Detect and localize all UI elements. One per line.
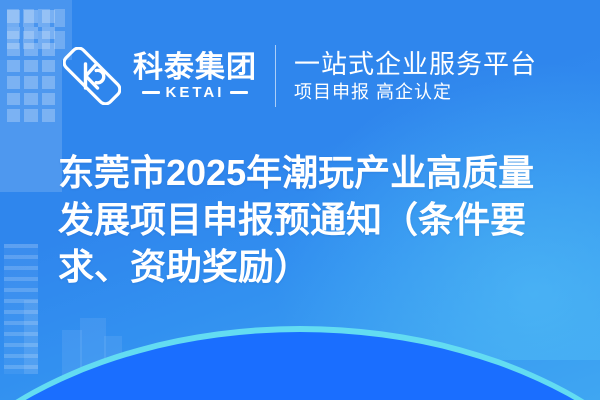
brand-name-cn: 科泰集团 xyxy=(133,53,257,83)
banner-header: 科泰集团 KETAI 一站式企业服务平台 项目申报 高企认定 xyxy=(0,38,600,114)
brand-tagline: 一站式企业服务平台 项目申报 高企认定 xyxy=(294,51,537,101)
brand-name-en-row: KETAI xyxy=(133,85,257,100)
brand-name-en: KETAI xyxy=(166,85,225,100)
header-divider xyxy=(275,45,276,107)
dash-right-icon xyxy=(230,91,248,94)
bottom-arc-divider xyxy=(0,290,600,400)
tagline-secondary: 项目申报 高企认定 xyxy=(294,83,537,101)
dash-left-icon xyxy=(142,91,160,94)
tagline-primary: 一站式企业服务平台 xyxy=(294,51,537,77)
brand-logo-wordmark: 科泰集团 KETAI xyxy=(133,53,257,100)
promo-banner: 科泰集团 KETAI 一站式企业服务平台 项目申报 高企认定 东莞市2025年潮… xyxy=(0,0,600,400)
brand-logo[interactable]: 科泰集团 KETAI xyxy=(63,47,257,105)
ketai-monogram-logo xyxy=(63,47,121,105)
page-title: 东莞市2025年潮玩产业高质量发展项目申报预通知（条件要求、资助奖励） xyxy=(58,150,564,290)
